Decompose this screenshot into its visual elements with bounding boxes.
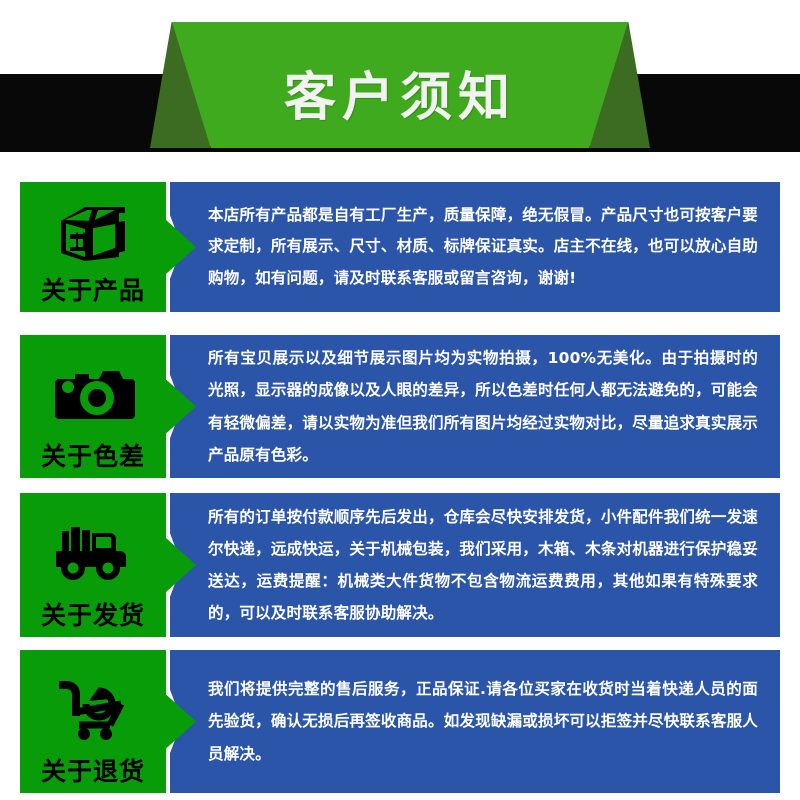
panel-text-shipping: 所有的订单按付款顺序先后发出，仓库会尽快安排发货，小件配件我们统一发速尔快递，远…	[170, 501, 780, 630]
badge-color[interactable]: 关于色差	[20, 335, 166, 478]
badge-return[interactable]: 关于退货	[20, 650, 166, 793]
badge-label-product: 关于产品	[41, 278, 145, 312]
panel-shipping: 所有的订单按付款顺序先后发出，仓库会尽快安排发货，小件配件我们统一发速尔快递，远…	[170, 493, 780, 637]
banner-ribbon: 客户须知	[172, 22, 628, 148]
badge-label-shipping: 关于发货	[41, 603, 145, 637]
panel-product: 本店所有产品都是自有工厂生产，质量保障，绝无假冒。产品尺寸也可按客户要求定制，所…	[170, 182, 780, 312]
camera-icon	[20, 343, 166, 444]
panel-return: 我们将提供完整的售后服务，正品保证.请各位买家在收货时当着快递人员的面先验货，确…	[170, 650, 780, 793]
forklift-truck-icon	[20, 501, 166, 603]
notice-row-return: 关于退货 我们将提供完整的售后服务，正品保证.请各位买家在收货时当着快递人员的面…	[0, 650, 800, 793]
badge-product[interactable]: 关于产品	[20, 182, 166, 312]
badge-label-color: 关于色差	[41, 444, 145, 478]
notice-row-color: 关于色差 所有宝贝展示以及细节展示图片均为实物拍摄，100%无美化。由于拍摄时的…	[0, 335, 800, 478]
return-cart-icon	[20, 658, 166, 759]
page-root: 客户须知 关于产品	[0, 0, 800, 800]
panel-color: 所有宝贝展示以及细节展示图片均为实物拍摄，100%无美化。由于拍摄时的光照，显示…	[170, 335, 780, 478]
notice-row-product: 关于产品 本店所有产品都是自有工厂生产，质量保障，绝无假冒。产品尺寸也可按客户要…	[0, 182, 800, 312]
package-box-icon	[20, 190, 166, 278]
notice-row-shipping: 关于发货 所有的订单按付款顺序先后发出，仓库会尽快安排发货，小件配件我们统一发速…	[0, 493, 800, 637]
header-banner: 客户须知	[0, 0, 800, 170]
panel-text-product: 本店所有产品都是自有工厂生产，质量保障，绝无假冒。产品尺寸也可按客户要求定制，所…	[170, 200, 780, 294]
panel-text-color: 所有宝贝展示以及细节展示图片均为实物拍摄，100%无美化。由于拍摄时的光照，显示…	[170, 342, 780, 471]
page-title: 客户须知	[284, 72, 516, 124]
badge-label-return: 关于退货	[41, 759, 145, 793]
panel-text-return: 我们将提供完整的售后服务，正品保证.请各位买家在收货时当着快递人员的面先验货，确…	[170, 673, 780, 770]
badge-shipping[interactable]: 关于发货	[20, 493, 166, 637]
